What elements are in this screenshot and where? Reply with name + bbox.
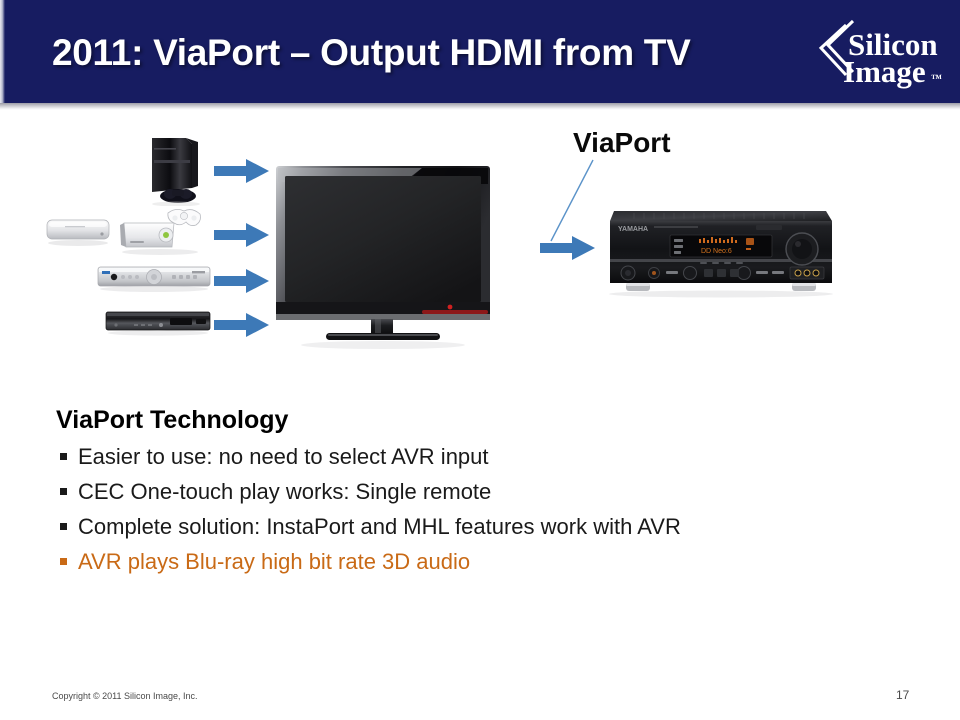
list-item-highlighted: AVR plays Blu-ray high bit rate 3D audio [60, 549, 910, 575]
arrow-source-to-tv-4 [214, 312, 270, 338]
list-item-label: AVR plays Blu-ray high bit rate 3D audio [78, 549, 470, 575]
list-item: Easier to use: no need to select AVR inp… [60, 444, 910, 470]
bullet-list: Easier to use: no need to select AVR inp… [60, 444, 910, 584]
square-bullet-icon [60, 523, 67, 530]
arrow-source-to-tv-2 [214, 222, 270, 248]
viaport-leader-line [548, 158, 596, 243]
header-bottom-edge [0, 103, 960, 110]
arrow-source-to-tv-1 [214, 158, 270, 184]
device-av-receiver: YAMAHA DD Neo:6 [604, 207, 839, 299]
logo-trademark: ™ [931, 73, 942, 85]
list-item: CEC One-touch play works: Single remote [60, 479, 910, 505]
list-item-label: Complete solution: InstaPort and MHL fea… [78, 514, 681, 540]
slide-canvas: 2011: ViaPort – Output HDMI from TV Sili… [0, 0, 960, 720]
device-set-top-box-dvr [96, 265, 212, 295]
avr-display-text: DD Neo:6 [701, 248, 732, 255]
footer-page-number: 17 [896, 688, 909, 702]
device-game-console-xbox360 [118, 207, 204, 257]
header-left-edge [0, 0, 5, 103]
section-heading: ViaPort Technology [56, 406, 288, 435]
device-media-streamer-appletv [45, 215, 113, 251]
square-bullet-icon [60, 558, 67, 565]
device-blu-ray-player [104, 310, 212, 338]
list-item-label: CEC One-touch play works: Single remote [78, 479, 491, 505]
list-item: Complete solution: InstaPort and MHL fea… [60, 514, 910, 540]
signal-flow-diagram: YAMAHA DD Neo:6 [0, 110, 960, 380]
logo-mark-icon: Silicon Image ™ [812, 18, 947, 92]
footer-copyright: Copyright © 2011 Silicon Image, Inc. [52, 691, 198, 701]
device-hdtv-television [272, 162, 494, 352]
silicon-image-logo: Silicon Image ™ [812, 18, 947, 92]
avr-brand-text: YAMAHA [618, 226, 648, 233]
logo-text-line2: Image [843, 54, 926, 89]
square-bullet-icon [60, 488, 67, 495]
device-game-console-ps3 [140, 136, 218, 206]
list-item-label: Easier to use: no need to select AVR inp… [78, 444, 489, 470]
square-bullet-icon [60, 453, 67, 460]
page-title: 2011: ViaPort – Output HDMI from TV [52, 32, 690, 74]
arrow-source-to-tv-3 [214, 268, 270, 294]
viaport-callout-label: ViaPort [573, 127, 671, 159]
